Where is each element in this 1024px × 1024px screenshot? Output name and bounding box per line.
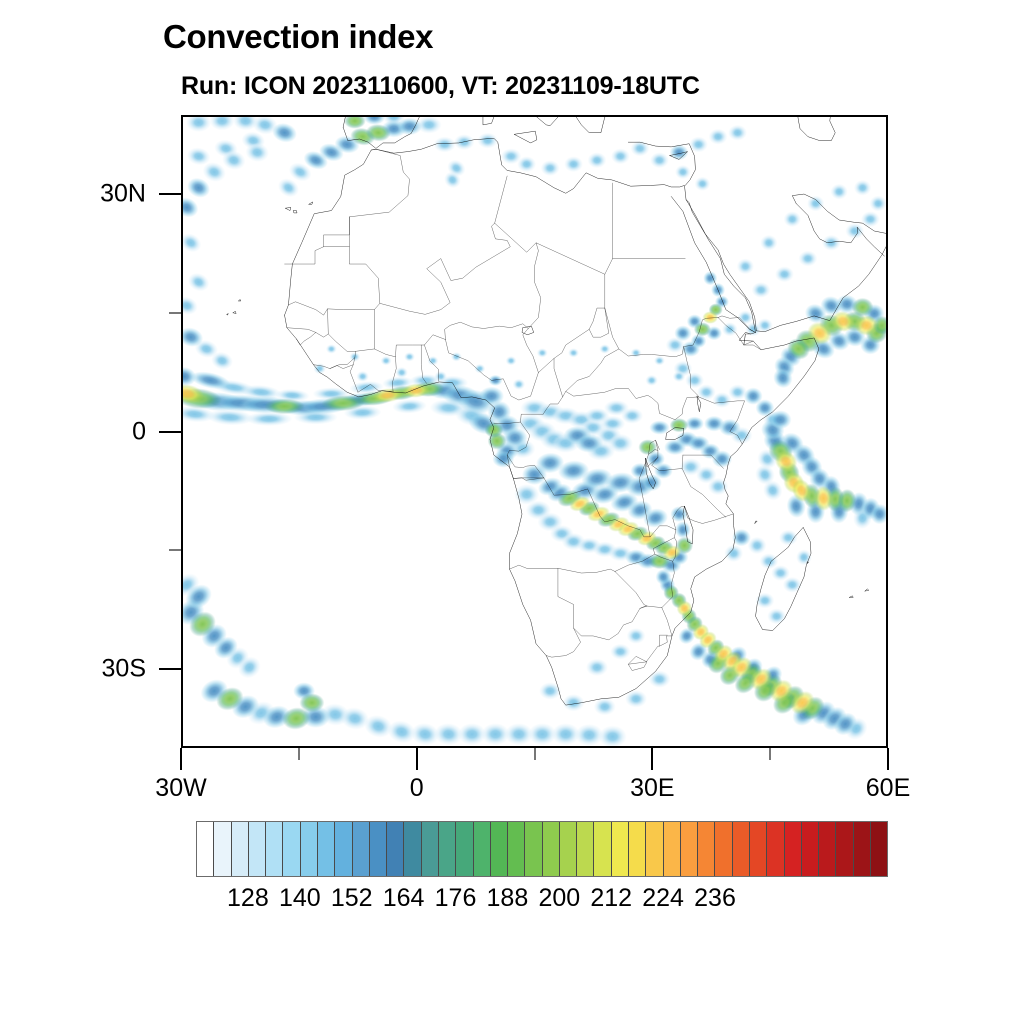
colorbar-cell — [819, 822, 836, 876]
convection-blob — [713, 392, 732, 408]
convection-blob — [861, 211, 880, 227]
y-tick-label-30S: 30S — [6, 654, 146, 683]
colorbar-cell — [474, 822, 491, 876]
colorbar-cell — [318, 822, 335, 876]
y-tick-label-30N: 30N — [6, 180, 146, 209]
convection-blob — [299, 693, 324, 712]
convection-blob — [638, 439, 657, 455]
colorbar-tick-label: 140 — [279, 884, 321, 913]
border-path — [744, 334, 761, 350]
colorbar-cell — [491, 822, 508, 876]
convection-blob — [488, 375, 502, 386]
convection-blob — [694, 322, 711, 336]
convection-blob — [728, 125, 747, 141]
convection-blob — [608, 434, 633, 453]
colorbar-cell — [802, 822, 819, 876]
convection-blob — [757, 318, 773, 332]
y-tick-label-0: 0 — [6, 417, 146, 446]
colorbar-cell — [370, 822, 387, 876]
colorbar-cell — [715, 822, 732, 876]
convection-blob — [767, 608, 786, 624]
map-plot-area — [181, 115, 888, 748]
colorbar-cell — [456, 822, 473, 876]
convection-blob — [845, 223, 864, 239]
convection-blob — [611, 148, 630, 164]
convection-blob — [434, 137, 456, 153]
convection-blob — [674, 325, 691, 341]
convection-blob — [779, 530, 798, 546]
convection-blob — [654, 356, 665, 365]
convection-blob — [356, 371, 368, 382]
coastline-path — [481, 117, 493, 125]
colorbar-cell — [664, 822, 681, 876]
y-tick-minor — [169, 549, 181, 551]
x-tick-label-30W: 30W — [155, 774, 206, 803]
colorbar-tick-label: 188 — [487, 884, 529, 913]
convection-blob — [756, 593, 775, 609]
colorbar-cell — [681, 822, 698, 876]
x-tick-minor — [534, 748, 536, 760]
convection-blob — [344, 117, 366, 129]
colorbar-cell — [646, 822, 663, 876]
convection-blob — [564, 156, 583, 172]
convection-blob — [599, 344, 610, 353]
convection-blob — [799, 251, 818, 267]
colorbar-cell — [387, 822, 404, 876]
coastline-path — [514, 131, 537, 143]
coastline-path — [755, 521, 757, 523]
convection-blob — [807, 196, 824, 212]
convection-blob — [183, 230, 205, 256]
colorbar-cell — [785, 822, 802, 876]
coastline-path — [238, 299, 240, 301]
colorbar-cell — [525, 822, 542, 876]
convection-blob — [485, 422, 504, 438]
border-path — [510, 565, 615, 573]
convection-blob — [522, 465, 547, 485]
colorbar-cell — [422, 822, 439, 876]
convection-blob — [477, 133, 497, 149]
convection-blob — [397, 118, 422, 135]
convection-blob — [675, 521, 691, 538]
convection-blob — [752, 282, 771, 298]
convection-blob — [621, 408, 643, 424]
x-tick-minor — [769, 748, 771, 760]
border-path — [380, 223, 510, 314]
convection-blob — [645, 375, 657, 386]
border-path — [287, 309, 328, 337]
colorbar-tick-label: 128 — [227, 884, 269, 913]
convection-blob — [673, 371, 685, 382]
coastline-path — [227, 314, 229, 316]
convection-blob — [381, 356, 392, 365]
convection-blob — [586, 659, 608, 676]
x-tick-major — [651, 748, 653, 770]
colorbar-cell — [767, 822, 784, 876]
convection-blob — [722, 322, 738, 336]
border-path — [495, 223, 536, 252]
border-path — [288, 217, 379, 315]
convection-blob — [675, 165, 691, 179]
colorbar-tick-label: 164 — [383, 884, 425, 913]
colorbar-cell — [197, 822, 214, 876]
border-path — [605, 183, 613, 274]
convection-blob — [264, 398, 305, 414]
convection-blob — [454, 134, 474, 150]
y-tick-minor — [169, 312, 181, 314]
convection-blob — [670, 145, 689, 161]
border-path — [574, 606, 662, 640]
convection-blob — [855, 315, 878, 335]
convection-blob — [575, 434, 603, 453]
border-path — [546, 568, 580, 657]
x-tick-label-60E: 60E — [866, 774, 910, 803]
border-path — [684, 506, 732, 523]
convection-blob — [210, 117, 235, 130]
convection-blob — [831, 184, 848, 200]
convection-blob — [599, 726, 627, 746]
colorbar-cell — [577, 822, 594, 876]
convection-blob — [783, 577, 802, 593]
convection-blob — [649, 420, 669, 434]
border-path — [659, 608, 671, 647]
convection-blob — [649, 671, 671, 688]
colorbar-cell — [301, 822, 318, 876]
colorbar-tick-label: 152 — [331, 884, 373, 913]
border-path — [628, 646, 659, 670]
border-path — [395, 335, 445, 357]
border-path — [589, 308, 609, 337]
convection-blob — [737, 259, 754, 275]
convection-blob — [517, 156, 536, 172]
x-tick-label-30E: 30E — [630, 774, 674, 803]
convection-blob — [625, 690, 647, 707]
colorbar-cell — [439, 822, 456, 876]
colorbar-cell — [214, 822, 231, 876]
coastline-path — [285, 207, 290, 210]
colorbar-cell — [733, 822, 750, 876]
convection-blob — [492, 450, 514, 467]
border-path — [495, 176, 507, 223]
convection-blob — [709, 129, 728, 145]
coastline-path — [697, 396, 701, 412]
convection-blob — [541, 160, 560, 176]
convection-blob — [738, 310, 754, 324]
colorbar-cell — [854, 822, 871, 876]
colorbar-tick-label: 224 — [642, 884, 684, 913]
convection-blob — [870, 196, 886, 212]
border-path — [615, 571, 647, 606]
border-path — [445, 322, 529, 339]
colorbar-cell — [750, 822, 767, 876]
convection-blob — [610, 644, 630, 660]
x-tick-major — [180, 748, 182, 770]
convection-blob — [627, 628, 646, 644]
colorbar-cell — [698, 822, 715, 876]
colorbar-tick-label: 236 — [694, 884, 736, 913]
convection-blob — [404, 352, 415, 361]
convection-blob — [631, 348, 642, 357]
convection-blob — [702, 311, 718, 324]
convection-blob — [770, 410, 792, 429]
y-tick-major — [159, 431, 181, 433]
convection-blob — [724, 545, 743, 562]
x-tick-label-0: 0 — [410, 774, 424, 803]
convection-blob — [719, 419, 741, 436]
convection-blob — [506, 356, 517, 365]
convection-blob — [775, 266, 794, 282]
convection-blob — [852, 298, 874, 317]
colorbar-cell — [232, 822, 249, 876]
map-canvas — [183, 117, 886, 746]
convection-blob — [650, 152, 669, 168]
x-tick-major — [887, 748, 889, 770]
x-tick-minor — [298, 748, 300, 760]
convection-blob — [183, 194, 201, 221]
convection-blob — [474, 364, 485, 373]
convection-blob — [760, 235, 777, 251]
convection-blob — [435, 371, 447, 382]
colorbar-cell — [836, 822, 853, 876]
colorbar-cell — [508, 822, 525, 876]
convection-blob — [537, 348, 548, 357]
convection-blob — [363, 117, 385, 125]
border-path — [554, 358, 563, 397]
convection-blob — [185, 270, 212, 295]
convection-blob — [395, 367, 407, 378]
x-tick-major — [416, 748, 418, 770]
coastline-path — [784, 117, 835, 141]
convection-blob — [183, 294, 200, 318]
colorbar-cell — [335, 822, 352, 876]
convection-blob — [568, 348, 579, 357]
convection-blob — [451, 352, 462, 361]
page-subtitle: Run: ICON 2023110600, VT: 20231109-18UTC — [181, 72, 700, 101]
convection-blob — [708, 478, 728, 495]
coastline-path — [849, 596, 853, 598]
colorbar-cell — [353, 822, 370, 876]
coastline-path — [285, 138, 886, 331]
convection-blob — [392, 398, 427, 414]
colorbar-cell — [283, 822, 300, 876]
convection-blob — [326, 344, 337, 353]
colorbar-cell — [629, 822, 646, 876]
colorbar-tick-label: 200 — [538, 884, 580, 913]
convection-blob — [822, 235, 841, 251]
y-tick-major — [159, 193, 181, 195]
convection-blob — [695, 177, 711, 191]
colorbar-tick-label: 212 — [590, 884, 632, 913]
convection-blob — [588, 152, 607, 168]
coastline-path — [865, 589, 869, 591]
colorbar-cell — [871, 822, 887, 876]
convection-blob — [513, 379, 525, 390]
convection-blob — [539, 682, 561, 699]
colorbar-cell — [594, 822, 611, 876]
coastline-path — [233, 311, 236, 313]
page-title: Convection index — [163, 18, 433, 56]
convection-blob — [784, 211, 801, 227]
convection-blob — [732, 529, 751, 546]
coastline-path — [309, 202, 313, 204]
convection-blob — [670, 418, 689, 432]
colorbar-cell — [404, 822, 421, 876]
convection-blob — [854, 180, 871, 196]
convection-field-layer — [183, 117, 886, 746]
colorbar-cell — [249, 822, 266, 876]
colorbar[interactable] — [196, 821, 888, 877]
colorbar-tick-label: 176 — [435, 884, 477, 913]
colorbar-cell — [543, 822, 560, 876]
y-tick-major — [159, 668, 181, 670]
convection-blob — [631, 141, 650, 157]
colorbar-cell — [266, 822, 283, 876]
convection-blob — [186, 117, 211, 132]
convection-blob — [697, 384, 716, 400]
colorbar-cell — [560, 822, 577, 876]
convection-blob — [756, 399, 775, 416]
coastline-path — [293, 211, 297, 213]
convection-blob — [594, 698, 616, 715]
colorbar-cell — [612, 822, 629, 876]
